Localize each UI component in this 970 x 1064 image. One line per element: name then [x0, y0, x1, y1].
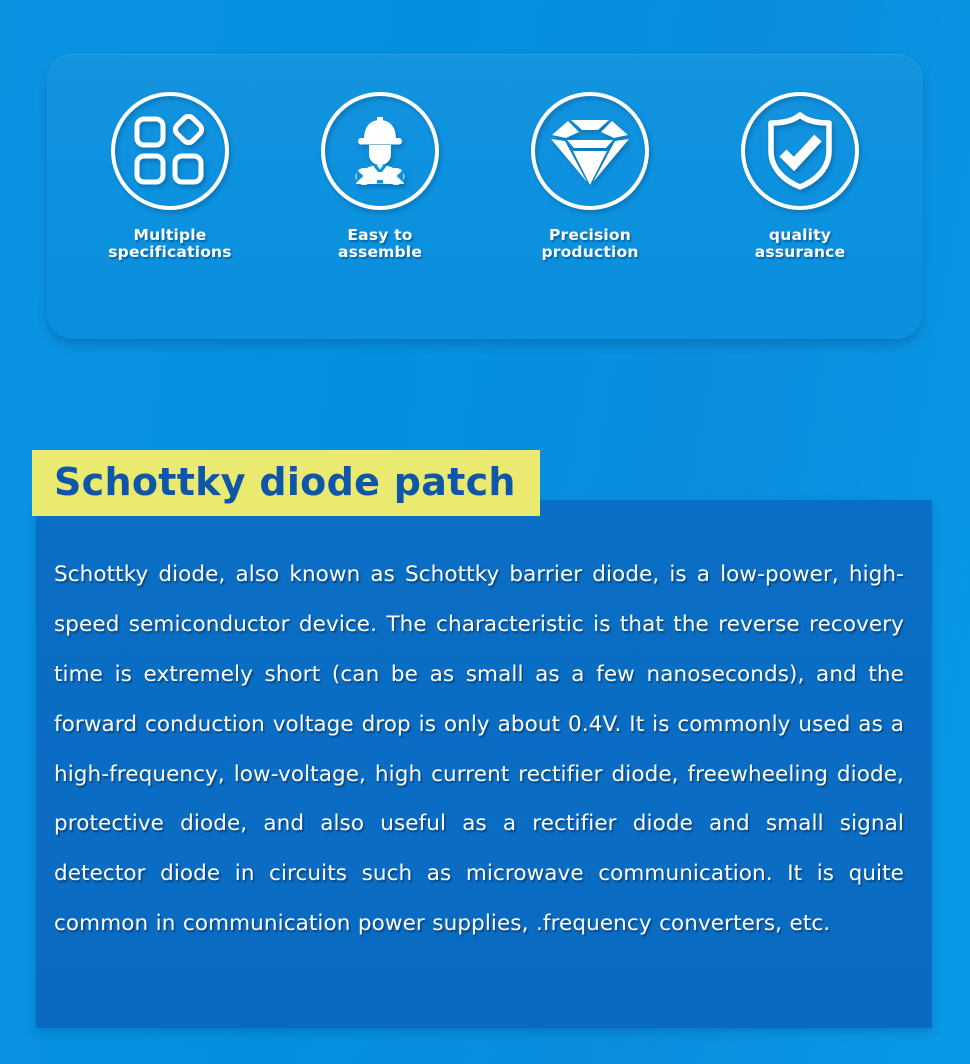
feature-label: quality assurance: [755, 227, 846, 262]
product-description-text: Schottky diode, also known as Schottky b…: [54, 550, 904, 949]
page-title: Schottky diode patch: [54, 463, 516, 501]
feature-label: Precision production: [541, 227, 638, 262]
feature-label: Easy to assemble: [338, 227, 422, 262]
feature-label: Multiple specifications: [108, 227, 231, 262]
feature-item-precision-production: Precision production: [490, 92, 690, 262]
product-title-highlight: Schottky diode patch: [32, 450, 540, 516]
feature-item-multiple-specifications: Multiple specifications: [70, 92, 270, 262]
features-card: Multiple specifications: [47, 54, 923, 339]
four-shapes-icon: [111, 92, 229, 210]
feature-item-quality-assurance: quality assurance: [700, 92, 900, 262]
worker-wrench-icon: [321, 92, 439, 210]
diamond-icon: [531, 92, 649, 210]
shield-check-icon: [741, 92, 859, 210]
product-description-panel: Schottky diode, also known as Schottky b…: [36, 500, 932, 1028]
feature-item-easy-to-assemble: Easy to assemble: [280, 92, 480, 262]
